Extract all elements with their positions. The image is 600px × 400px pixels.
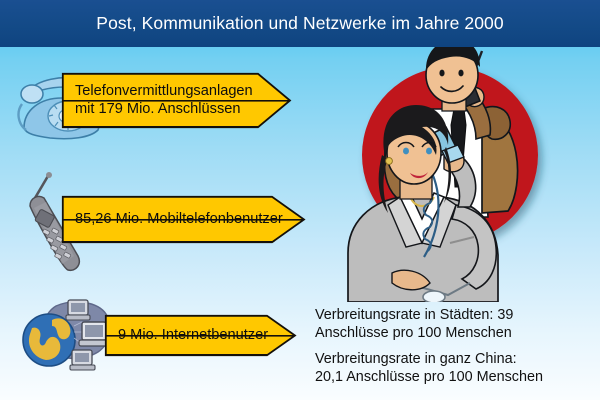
computer-icon-middle	[79, 322, 109, 346]
slide-canvas: Post, Kommunikation und Netzwerke im Jah…	[0, 0, 600, 400]
stat-urban-penetration: Verbreitungsrate in Städten: 39 Anschlüs…	[315, 306, 597, 342]
banner-internet-users-label: 9 Mio. Internetbenutzer	[105, 327, 268, 344]
illustration-svg	[330, 47, 600, 302]
computer-icon-top	[66, 300, 90, 320]
computer-icon-bottom	[70, 350, 95, 370]
banner-mobile-users-label: 85,26 Mio. Mobiltelefonbenutzer	[62, 211, 283, 228]
banner-telephone-exchange-label: Telefonvermittlungsanlagen mit 179 Mio. …	[62, 83, 253, 117]
banner-telephone-exchange[interactable]: Telefonvermittlungsanlagen mit 179 Mio. …	[62, 73, 290, 128]
page-title: Post, Kommunikation und Netzwerke im Jah…	[0, 0, 600, 47]
two-people-on-phones-illustration	[330, 47, 600, 302]
stat-national-penetration: Verbreitungsrate in ganz China: 20,1 Ans…	[315, 350, 597, 386]
globe-network-icon	[16, 296, 116, 376]
banner-mobile-users[interactable]: 85,26 Mio. Mobiltelefonbenutzer	[62, 196, 304, 243]
banner-internet-users[interactable]: 9 Mio. Internetbenutzer	[105, 315, 295, 356]
